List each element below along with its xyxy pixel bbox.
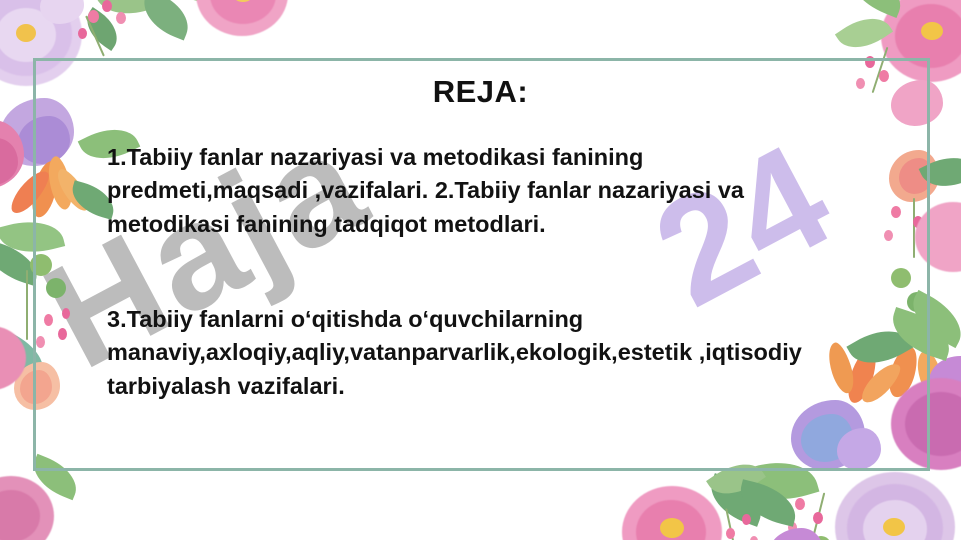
page-title: REJA: [0, 74, 961, 110]
body-paragraph-1: 1.Tabiiy fanlar nazariyasi va metodikasi… [107, 141, 847, 241]
presentation-slide: Наја 24 [0, 0, 961, 540]
slide-content: REJA: 1.Tabiiy fanlar nazariyasi va meto… [0, 0, 961, 540]
body-paragraph-2: 3.Tabiiy fanlarni o‘qitishda o‘quvchilar… [107, 303, 847, 403]
